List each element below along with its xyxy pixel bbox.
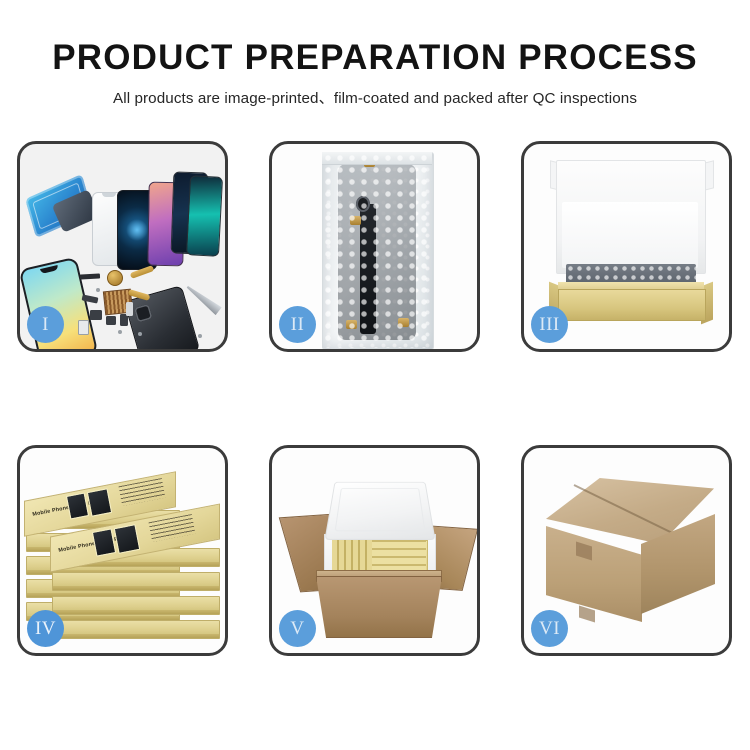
- small-part-icon: [106, 316, 116, 325]
- screw-icon: [118, 330, 122, 334]
- process-step-panel-1[interactable]: I: [17, 141, 228, 352]
- page-subtitle: All products are image-printed、film-coat…: [0, 77, 750, 108]
- foam-box-lid: [324, 482, 435, 540]
- bubble-texture-overlay: [322, 152, 432, 348]
- page-title: PRODUCT PREPARATION PROCESS: [0, 0, 750, 77]
- page-header: PRODUCT PREPARATION PROCESS All products…: [0, 0, 750, 108]
- process-step-panel-2[interactable]: II: [269, 141, 480, 352]
- speaker-module-icon: [107, 270, 123, 286]
- foam-sheet-icon: [562, 202, 698, 268]
- sim-tray-icon: [126, 302, 133, 316]
- step-badge-1: I: [27, 306, 64, 343]
- step-badge-3: III: [531, 306, 568, 343]
- process-step-grid: I II III: [17, 141, 733, 683]
- carton-body: [316, 576, 442, 638]
- step-badge-2: II: [279, 306, 316, 343]
- small-part-icon: [90, 310, 102, 320]
- process-step-panel-5[interactable]: V: [269, 445, 480, 656]
- process-step-panel-4[interactable]: Mobile Phone Spare Parts Mobile Phone Sp…: [17, 445, 228, 656]
- box-window-icon: [114, 524, 141, 554]
- phone-display-teal-icon: [186, 175, 223, 257]
- tweezers-icon: [184, 283, 222, 316]
- screw-icon: [198, 334, 202, 338]
- carton-left-face: [546, 526, 642, 622]
- kraft-box-layer: [52, 572, 220, 591]
- screw-icon: [138, 332, 142, 336]
- screw-icon: [96, 288, 100, 292]
- earpiece-bar-icon: [80, 273, 100, 279]
- step-badge-4: IV: [27, 610, 64, 647]
- sim-tray-icon: [78, 320, 89, 335]
- step-badge-6: VI: [531, 610, 568, 647]
- process-step-panel-3[interactable]: III: [521, 141, 732, 352]
- kraft-box-front: [558, 289, 706, 321]
- kraft-box-layer: [52, 620, 220, 639]
- step-badge-5: V: [279, 610, 316, 647]
- box-window-icon: [87, 488, 112, 517]
- kraft-box-layer: [52, 596, 220, 615]
- process-step-panel-6[interactable]: VI: [521, 445, 732, 656]
